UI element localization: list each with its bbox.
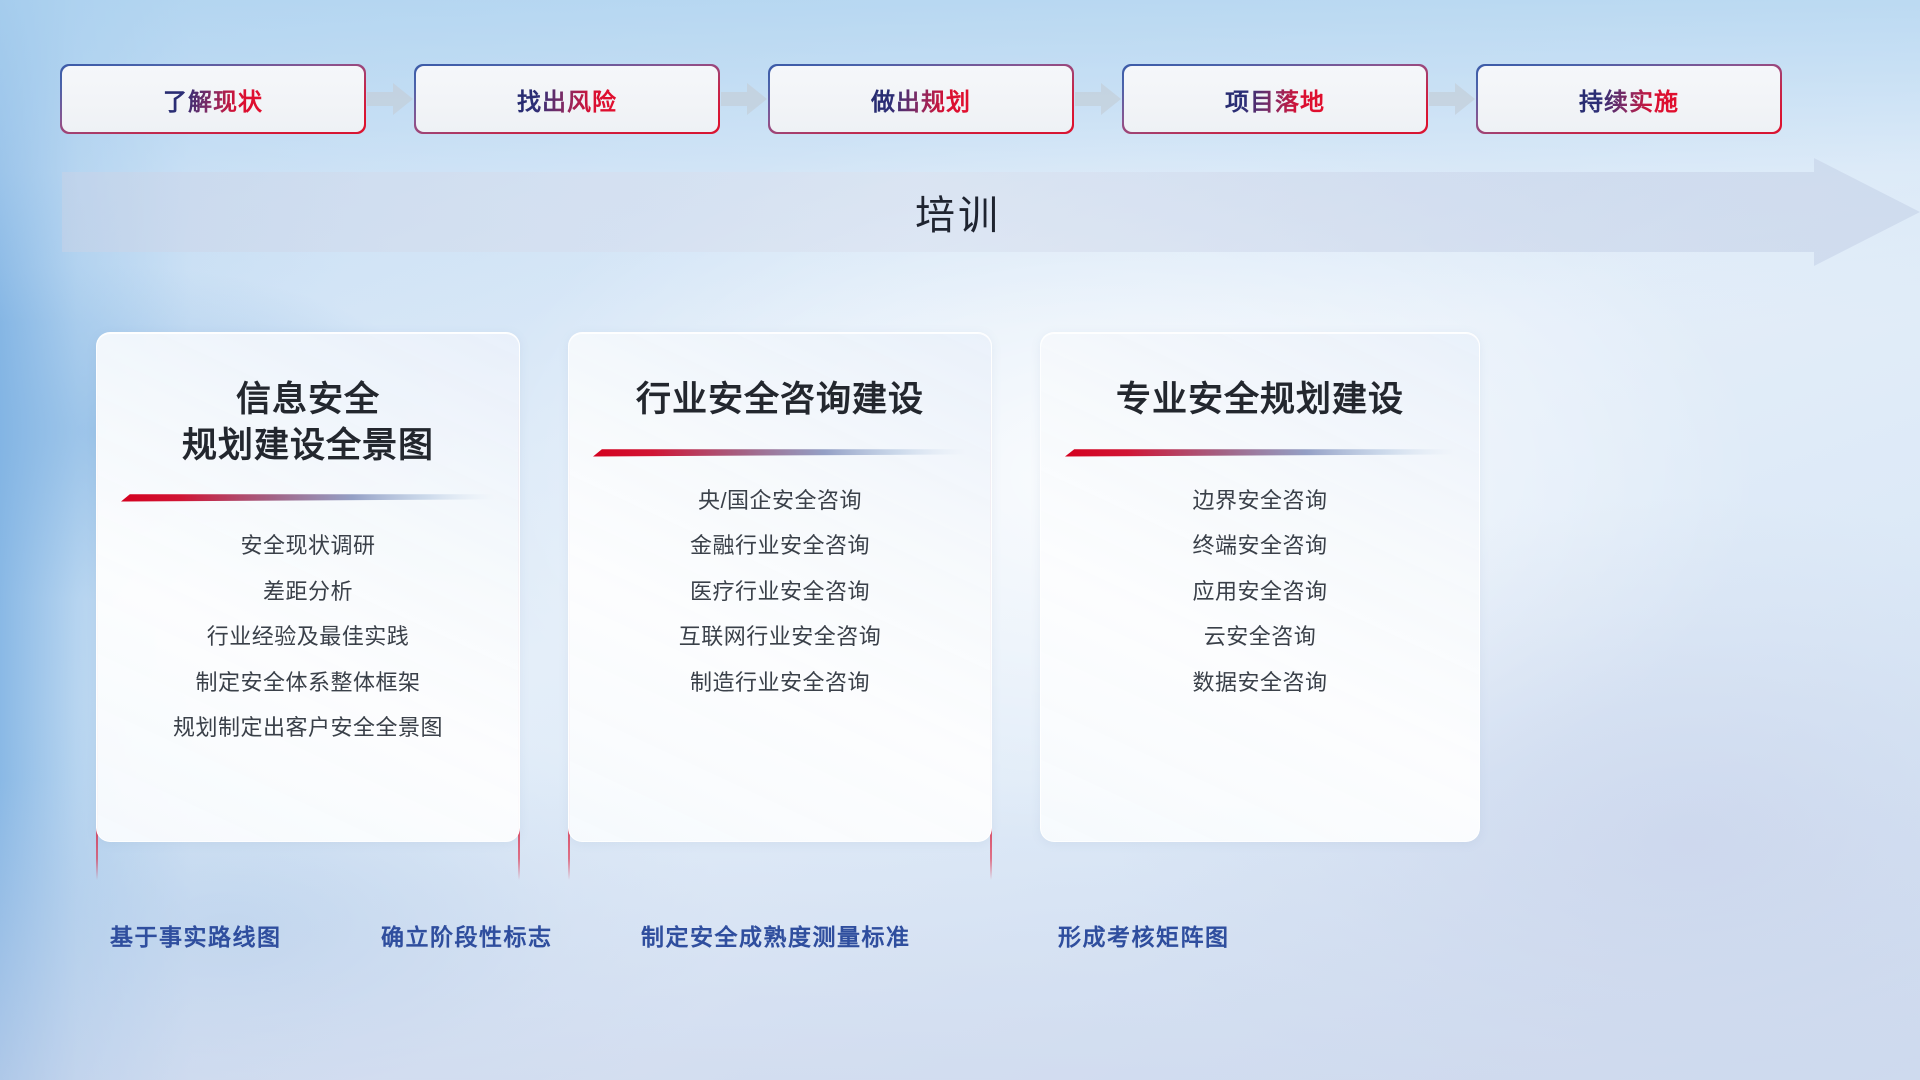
card-2-header: 行业安全咨询建设: [569, 333, 991, 423]
card-1-list-item-4: 制定安全体系整体框架: [195, 669, 420, 698]
step-button-5[interactable]: 持续实施: [1478, 66, 1780, 132]
card-1-list-item-2: 差距分析: [263, 578, 353, 607]
caption-3: 制定安全成熟度测量标准: [641, 918, 911, 952]
caption-2: 确立阶段性标志: [381, 918, 553, 952]
card-2-list-item-3: 医疗行业安全咨询: [690, 578, 870, 607]
step-button-2-label: 找出风险: [517, 82, 617, 117]
arrow-right-icon-1: [364, 79, 416, 119]
arrow-right-icon-3: [1072, 79, 1124, 119]
card-3-title: 专业安全规划建设: [1041, 377, 1479, 423]
caption-4: 形成考核矩阵图: [1058, 918, 1230, 952]
card-1-header: 信息安全 规划建设全景图: [97, 333, 519, 468]
card-3-divider-wrap: [1041, 445, 1479, 461]
arrow-right-icon-4: [1426, 79, 1478, 119]
card-3-list-item-5: 数据安全咨询: [1192, 669, 1327, 698]
card-1-list-item-3: 行业经验及最佳实践: [207, 623, 410, 652]
step-button-3[interactable]: 做出规划: [770, 66, 1072, 132]
card-1-list-item-1: 安全现状调研: [240, 532, 375, 561]
gradient-divider-icon-3: [1065, 445, 1455, 461]
card-2-list-item-5: 制造行业安全咨询: [690, 669, 870, 698]
caption-row: 基于事实路线图 确立阶段性标志 制定安全成熟度测量标准 形成考核矩阵图: [0, 918, 1920, 978]
card-row: 信息安全 规划建设全景图: [0, 332, 1920, 892]
card-1[interactable]: 信息安全 规划建设全景图: [96, 332, 520, 842]
card-1-list-item-5: 规划制定出客户安全全景图: [173, 714, 443, 743]
card-3[interactable]: 专业安全规划建设: [1040, 332, 1480, 842]
card-3-list: 边界安全咨询 终端安全咨询 应用安全咨询 云安全咨询 数据安全咨询: [1041, 487, 1479, 698]
card-slot-1: 信息安全 规划建设全景图: [96, 332, 520, 842]
process-step-row: 了解现状 找出风险 做出规划 项目落地 持续实施: [0, 64, 1920, 134]
card-2-divider-wrap: [569, 445, 991, 461]
step-button-4-label: 项目落地: [1225, 82, 1325, 117]
card-2[interactable]: 行业安全咨询建设: [568, 332, 992, 842]
training-banner: 培训: [62, 158, 1920, 266]
step-button-5-label: 持续实施: [1579, 82, 1679, 117]
card-slot-2: 行业安全咨询建设: [568, 332, 992, 842]
step-button-2[interactable]: 找出风险: [416, 66, 718, 132]
card-2-list-item-2: 金融行业安全咨询: [690, 532, 870, 561]
card-1-divider-wrap: [97, 490, 519, 506]
step-button-3-label: 做出规划: [871, 82, 971, 117]
arrow-right-icon-2: [718, 79, 770, 119]
card-2-list-item-1: 央/国企安全咨询: [698, 487, 862, 516]
step-button-1[interactable]: 了解现状: [62, 66, 364, 132]
card-slot-3: 专业安全规划建设: [1040, 332, 1480, 842]
card-2-list: 央/国企安全咨询 金融行业安全咨询 医疗行业安全咨询 互联网行业安全咨询 制造行…: [569, 487, 991, 698]
card-1-list: 安全现状调研 差距分析 行业经验及最佳实践 制定安全体系整体框架 规划制定出客户…: [97, 532, 519, 743]
step-button-4[interactable]: 项目落地: [1124, 66, 1426, 132]
banner-title: 培训: [62, 158, 1854, 266]
card-3-list-item-3: 应用安全咨询: [1192, 578, 1327, 607]
card-3-list-item-2: 终端安全咨询: [1192, 532, 1327, 561]
card-3-header: 专业安全规划建设: [1041, 333, 1479, 423]
card-3-list-item-4: 云安全咨询: [1204, 623, 1317, 652]
card-2-title: 行业安全咨询建设: [569, 377, 991, 423]
card-3-list-item-1: 边界安全咨询: [1192, 487, 1327, 516]
gradient-divider-icon-1: [121, 490, 495, 506]
step-button-1-label: 了解现状: [163, 82, 263, 117]
card-2-list-item-4: 互联网行业安全咨询: [679, 623, 882, 652]
card-1-title: 信息安全 规划建设全景图: [97, 377, 519, 468]
caption-1: 基于事实路线图: [110, 918, 282, 952]
gradient-divider-icon-2: [593, 445, 967, 461]
